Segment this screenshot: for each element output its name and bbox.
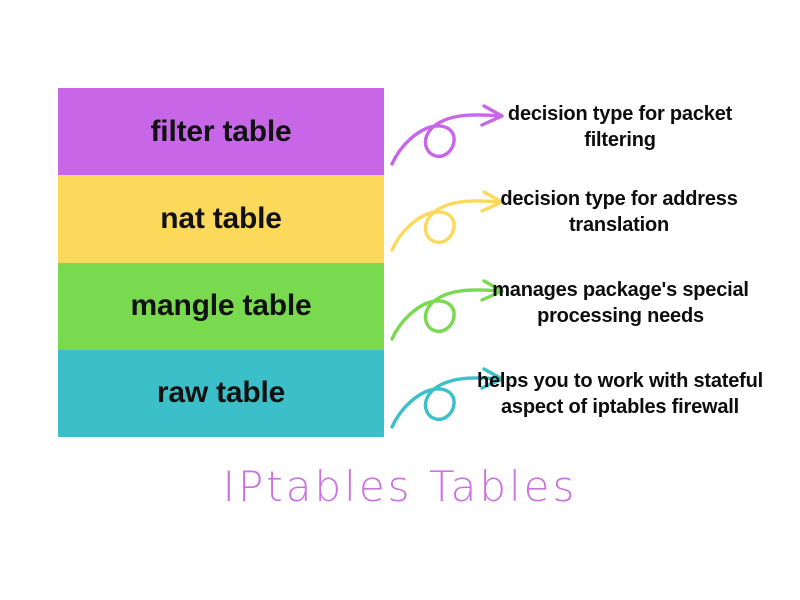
table-row-label: mangle table <box>131 291 312 321</box>
annotation-text: helps you to work with stateful aspect o… <box>470 368 770 421</box>
table-row: nat table <box>58 175 384 262</box>
table-row-label: raw table <box>157 378 285 408</box>
table-row-label: filter table <box>151 117 292 147</box>
table-row: raw table <box>58 350 384 437</box>
iptables-tables-stack: filter table nat table mangle table raw … <box>58 88 384 437</box>
diagram-canvas: filter table nat table mangle table raw … <box>0 0 800 600</box>
annotation-text: manages package's special processing nee… <box>468 277 773 330</box>
table-row: mangle table <box>58 263 384 350</box>
annotation-text: decision type for address translation <box>478 186 760 239</box>
table-row: filter table <box>58 88 384 175</box>
annotation-text: decision type for packet filtering <box>470 101 770 154</box>
page-title: IPtables Tables <box>0 462 800 511</box>
table-row-label: nat table <box>160 204 282 234</box>
